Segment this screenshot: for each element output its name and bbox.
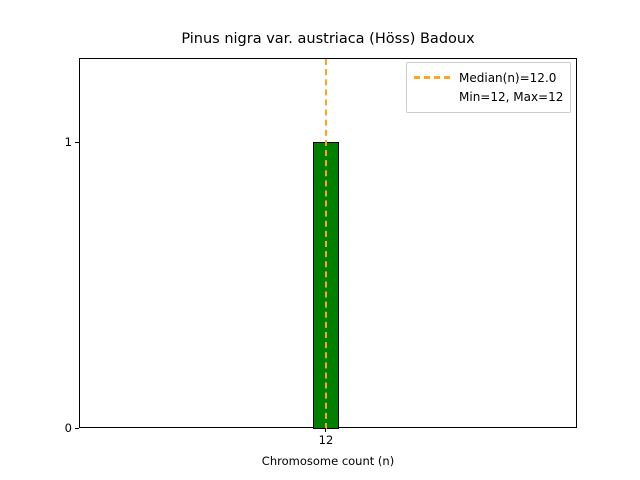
y-tick-mark-0: [75, 428, 79, 429]
matplotlib-figure: Pinus nigra var. austriaca (Höss) Badoux…: [0, 0, 640, 480]
x-tick-label-12: 12: [305, 434, 347, 446]
plot-area: [79, 58, 577, 428]
x-axis-label: Chromosome count (n): [79, 454, 577, 468]
x-tick-mark-12: [325, 428, 326, 432]
median-line: [325, 59, 327, 429]
legend-entry-minmax: Min=12, Max=12: [414, 87, 563, 106]
legend-entry-median: Median(n)=12.0: [414, 68, 563, 87]
legend[interactable]: Median(n)=12.0 Min=12, Max=12: [406, 62, 571, 113]
blank-sample-icon: [414, 95, 450, 98]
y-tick-label-1: 1: [56, 136, 72, 148]
dashed-line-icon: [414, 76, 450, 79]
chart-title: Pinus nigra var. austriaca (Höss) Badoux: [79, 30, 577, 48]
legend-label-median: Median(n)=12.0: [459, 70, 556, 86]
legend-label-minmax: Min=12, Max=12: [459, 89, 563, 105]
y-tick-label-0: 0: [56, 422, 72, 434]
